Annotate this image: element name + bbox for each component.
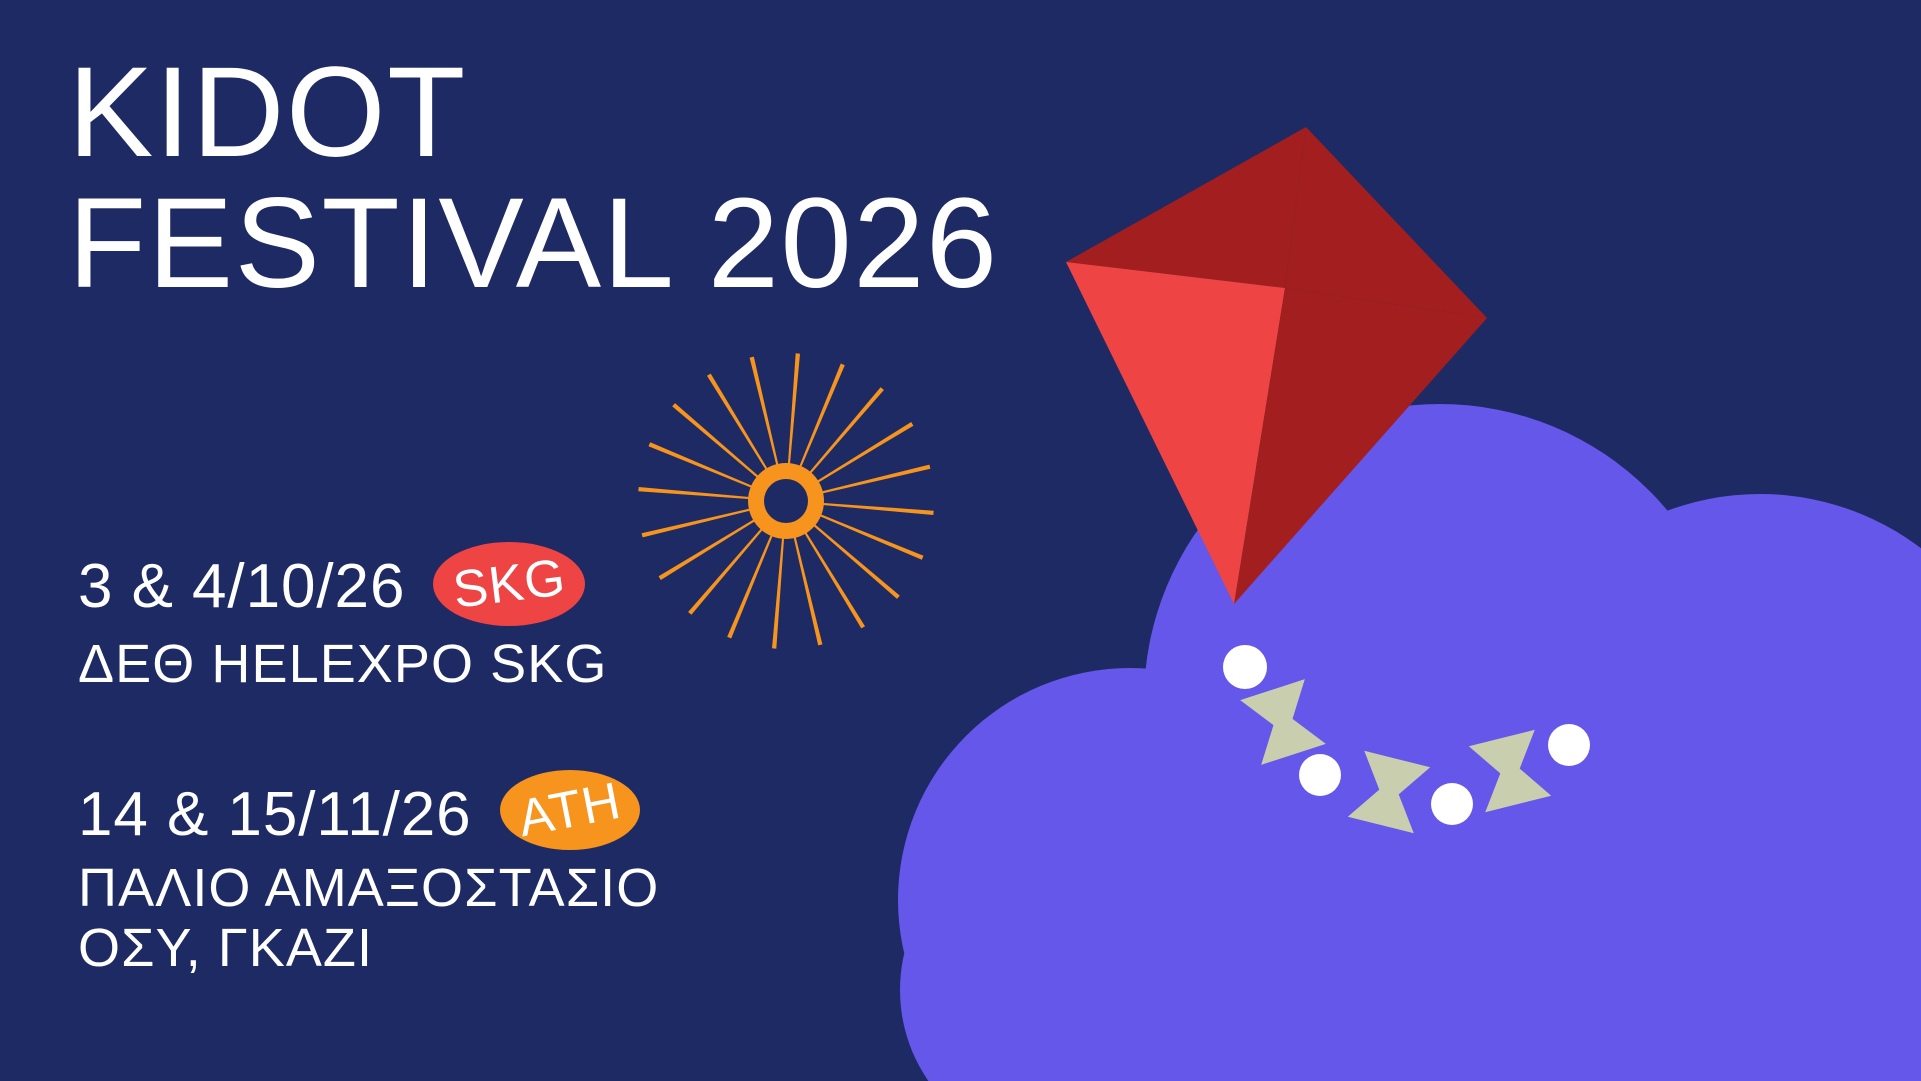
poster-canvas: KIDOT FESTIVAL 2026 3 & 4/10/26 SKG ΔΕΘ …	[0, 0, 1921, 1081]
sunburst-ray	[638, 487, 752, 499]
event-block-skg: 3 & 4/10/26 SKG ΔΕΘ HELEXPO SKG	[78, 548, 607, 694]
event-venue-ath-line-2: ΟΣΥ, ΓΚΑΖΙ	[78, 918, 659, 978]
sunburst-ray	[807, 387, 884, 476]
sunburst-ray	[772, 535, 784, 649]
sunburst-ray	[688, 526, 765, 615]
badge-ath-label: ATH	[514, 775, 625, 846]
sunburst-ray	[727, 532, 774, 639]
sunburst-ray	[798, 364, 845, 471]
sunburst-ray	[672, 403, 761, 480]
event-date-skg: 3 & 4/10/26	[78, 556, 405, 618]
event-venue-ath-line-1: ΠΑΛΙΟ ΑΜΑΞΟΣΤΑΣΙΟ	[78, 858, 659, 918]
sunburst-ray	[817, 513, 924, 560]
sunburst-ray	[642, 508, 754, 538]
sunburst-ray	[793, 534, 823, 646]
badge-ath: ATH	[500, 770, 640, 850]
sunburst-ray	[820, 503, 934, 515]
event-date-row: 3 & 4/10/26 SKG	[78, 548, 607, 626]
cloud-shape	[898, 404, 1921, 1081]
badge-skg: SKG	[433, 542, 585, 626]
badge-skg-label: SKG	[450, 551, 568, 616]
title-line-2: FESTIVAL 2026	[68, 179, 999, 310]
event-venue-skg-line-1: ΔΕΘ HELEXPO SKG	[78, 634, 607, 694]
sunburst-ray	[788, 353, 800, 467]
poster-title: KIDOT FESTIVAL 2026	[68, 48, 999, 309]
sunburst-ray	[750, 357, 780, 469]
event-block-ath: 14 & 15/11/26 ATH ΠΑΛΙΟ ΑΜΑΞΟΣΤΑΣΙΟ ΟΣΥ,…	[78, 780, 659, 979]
sunburst-center	[764, 479, 808, 523]
sunburst-ray	[819, 465, 931, 495]
event-date-ath: 14 & 15/11/26	[78, 784, 472, 846]
sunburst-shape	[638, 353, 933, 648]
event-date-row: 14 & 15/11/26 ATH	[78, 780, 659, 850]
sunburst-ray	[649, 442, 756, 489]
sunburst-ray	[811, 522, 900, 599]
title-line-1: KIDOT	[68, 48, 999, 179]
